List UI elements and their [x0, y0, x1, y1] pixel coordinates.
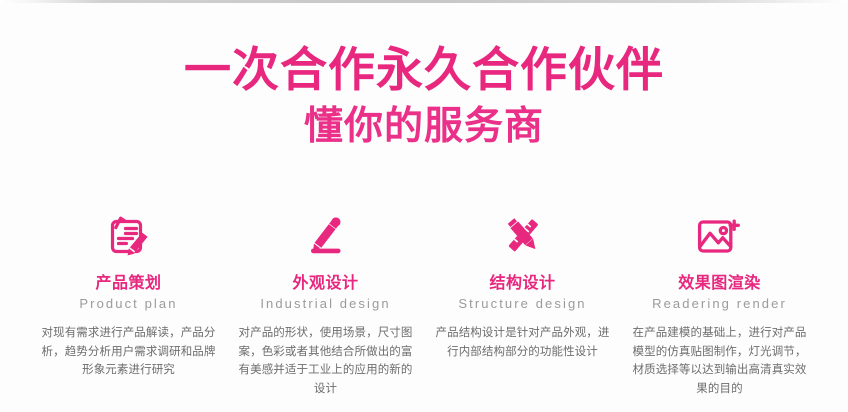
- headline-main: 一次合作永久合作伙伴: [0, 44, 848, 97]
- feature-item-rendering[interactable]: 效果图渲染 Readering render 在产品建模的基础上，进行对产品模型…: [621, 204, 818, 399]
- feature-subtitle: Product plan: [36, 296, 221, 313]
- feature-item-industrial-design[interactable]: 外观设计 Industrial design 对产品的形状，使用场景，尺寸图案，…: [227, 204, 424, 399]
- feature-description: 对现有需求进行产品解读，产品分析，趋势分析用户需求调研和品牌形象元素进行研究: [36, 324, 221, 380]
- feature-item-product-plan[interactable]: 产品策划 Product plan 对现有需求进行产品解读，产品分析，趋势分析用…: [30, 204, 227, 380]
- feature-title: 效果图渲染: [627, 274, 812, 293]
- crossed-ruler-pen-icon: [430, 204, 615, 266]
- top-edge-divider: [0, 0, 848, 3]
- headline-block: 一次合作永久合作伙伴 懂你的服务商: [0, 44, 848, 149]
- feature-title: 外观设计: [233, 274, 418, 293]
- promo-banner: 一次合作永久合作伙伴 懂你的服务商: [0, 0, 848, 412]
- feature-title: 结构设计: [430, 274, 615, 293]
- feature-item-structure-design[interactable]: 结构设计 Structure design 产品结构设计是针对产品外观，进行内部…: [424, 204, 621, 361]
- feature-subtitle: Readering render: [627, 296, 812, 313]
- feature-list: 产品策划 Product plan 对现有需求进行产品解读，产品分析，趋势分析用…: [0, 204, 848, 399]
- feature-title: 产品策划: [36, 274, 221, 293]
- headline-sub: 懂你的服务商: [0, 105, 848, 150]
- feature-subtitle: Industrial design: [233, 296, 418, 313]
- feature-subtitle: Structure design: [430, 296, 615, 313]
- image-add-icon: [627, 204, 812, 266]
- pencil-drawing-icon: [233, 204, 418, 266]
- feature-description: 在产品建模的基础上，进行对产品模型的仿真贴图制作，灯光调节，材质选择等以达到输出…: [627, 324, 812, 399]
- feature-description: 对产品的形状，使用场景，尺寸图案，色彩或者其他结合所做出的富有美感并适于工业上的…: [233, 324, 418, 399]
- feature-description: 产品结构设计是针对产品外观，进行内部结构部分的功能性设计: [430, 324, 615, 361]
- document-pencil-icon: [36, 204, 221, 266]
